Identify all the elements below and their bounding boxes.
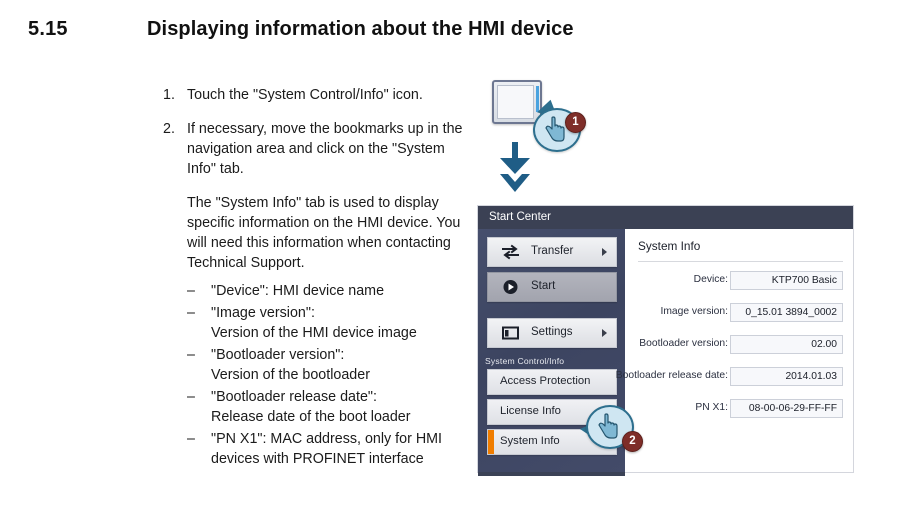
sidebar-item-access-protection[interactable]: Access Protection <box>487 369 617 395</box>
step-number: 1. <box>163 85 187 105</box>
sidebar-item-settings[interactable]: Settings <box>487 318 617 348</box>
dash-bullet-icon: – <box>187 345 211 385</box>
bullet-text: "Device": HMI device name <box>211 281 468 301</box>
sidebar-item-label: Start <box>531 280 555 292</box>
field-label: Bootloader release date: <box>616 370 728 381</box>
selected-indicator <box>488 430 494 454</box>
field-label: Bootloader version: <box>639 338 728 349</box>
content-pane: System Info Device: KTP700 Basic Image v… <box>625 229 853 472</box>
field-row-pn-x1: PN X1: 08-00-06-29-FF-FF <box>625 399 853 418</box>
field-value-bootloader-release-date: 2014.01.03 <box>730 367 843 386</box>
bullet-text: "Bootloader version": Version of the boo… <box>211 345 468 385</box>
section-number: 5.15 <box>28 18 68 41</box>
bullet-text: "Image version": Version of the HMI devi… <box>211 303 468 343</box>
play-circle-icon <box>502 279 519 295</box>
step-paragraph: The "System Info" tab is used to display… <box>187 193 468 273</box>
field-value-device: KTP700 Basic <box>730 271 843 290</box>
sidebar-item-label: Access Protection <box>500 375 590 387</box>
hmi-start-center-window: Start Center Transfer Start <box>478 206 853 472</box>
callout-badge-2: 2 <box>622 431 643 452</box>
page-heading: 5.15 Displaying information about the HM… <box>0 18 898 56</box>
dash-bullet-icon: – <box>187 303 211 343</box>
chevron-right-icon <box>602 329 607 337</box>
dash-bullet-icon: – <box>187 281 211 301</box>
sidebar-item-label: Transfer <box>531 245 573 257</box>
list-item: – "Bootloader release date": Release dat… <box>187 387 468 427</box>
window-title-bar: Start Center <box>478 206 853 229</box>
field-value-pn-x1: 08-00-06-29-FF-FF <box>730 399 843 418</box>
touch-hand-icon <box>544 116 566 142</box>
field-label: PN X1: <box>695 402 728 413</box>
field-row-bootloader-release-date: Bootloader release date: 2014.01.03 <box>625 367 853 386</box>
sidebar-item-label: Settings <box>531 326 573 338</box>
list-item: – "Device": HMI device name <box>187 281 468 301</box>
list-item: – "PN X1": MAC address, only for HMI dev… <box>187 429 468 469</box>
device-screen <box>497 85 534 119</box>
bullet-text: "PN X1": MAC address, only for HMI devic… <box>211 429 468 469</box>
field-label: Image version: <box>660 306 728 317</box>
bullet-text: "Bootloader release date": Release date … <box>211 387 468 427</box>
sidebar-item-start[interactable]: Start <box>487 272 617 302</box>
field-label: Device: <box>694 274 728 285</box>
sidebar-item-label: License Info <box>500 405 561 417</box>
field-value-bootloader-version: 02.00 <box>730 335 843 354</box>
list-item: 1. Touch the "System Control/Info" icon. <box>163 85 468 105</box>
dash-bullet-icon: – <box>187 429 211 469</box>
touch-hand-icon <box>597 413 619 439</box>
step-number: 2. <box>163 119 187 471</box>
list-item: – "Bootloader version": Version of the b… <box>187 345 468 385</box>
list-item: 2. If necessary, move the bookmarks up i… <box>163 119 468 471</box>
field-row-device: Device: KTP700 Basic <box>625 271 853 290</box>
callout-badge-1: 1 <box>565 112 586 133</box>
page-title: Displaying information about the HMI dev… <box>147 18 574 41</box>
divider <box>638 261 843 262</box>
sidebar-group-label: System Control/Info <box>485 356 564 366</box>
sub-bullet-list: – "Device": HMI device name – "Image ver… <box>187 281 468 469</box>
field-row-image-version: Image version: 0_15.01 3894_0002 <box>625 303 853 322</box>
transfer-arrows-icon <box>502 244 519 260</box>
step-text: Touch the "System Control/Info" icon. <box>187 85 468 105</box>
field-row-bootloader-version: Bootloader version: 02.00 <box>625 335 853 354</box>
sidebar-item-label: System Info <box>500 435 560 447</box>
double-chevron-down-icon <box>492 140 538 196</box>
sidebar-item-transfer[interactable]: Transfer <box>487 237 617 267</box>
list-item: – "Image version": Version of the HMI de… <box>187 303 468 343</box>
content-title: System Info <box>638 239 700 253</box>
window-icon <box>502 325 519 341</box>
dash-bullet-icon: – <box>187 387 211 427</box>
step-text: If necessary, move the bookmarks up in t… <box>187 119 468 179</box>
field-value-image-version: 0_15.01 3894_0002 <box>730 303 843 322</box>
chevron-right-icon <box>602 248 607 256</box>
instruction-list: 1. Touch the "System Control/Info" icon.… <box>163 85 468 485</box>
